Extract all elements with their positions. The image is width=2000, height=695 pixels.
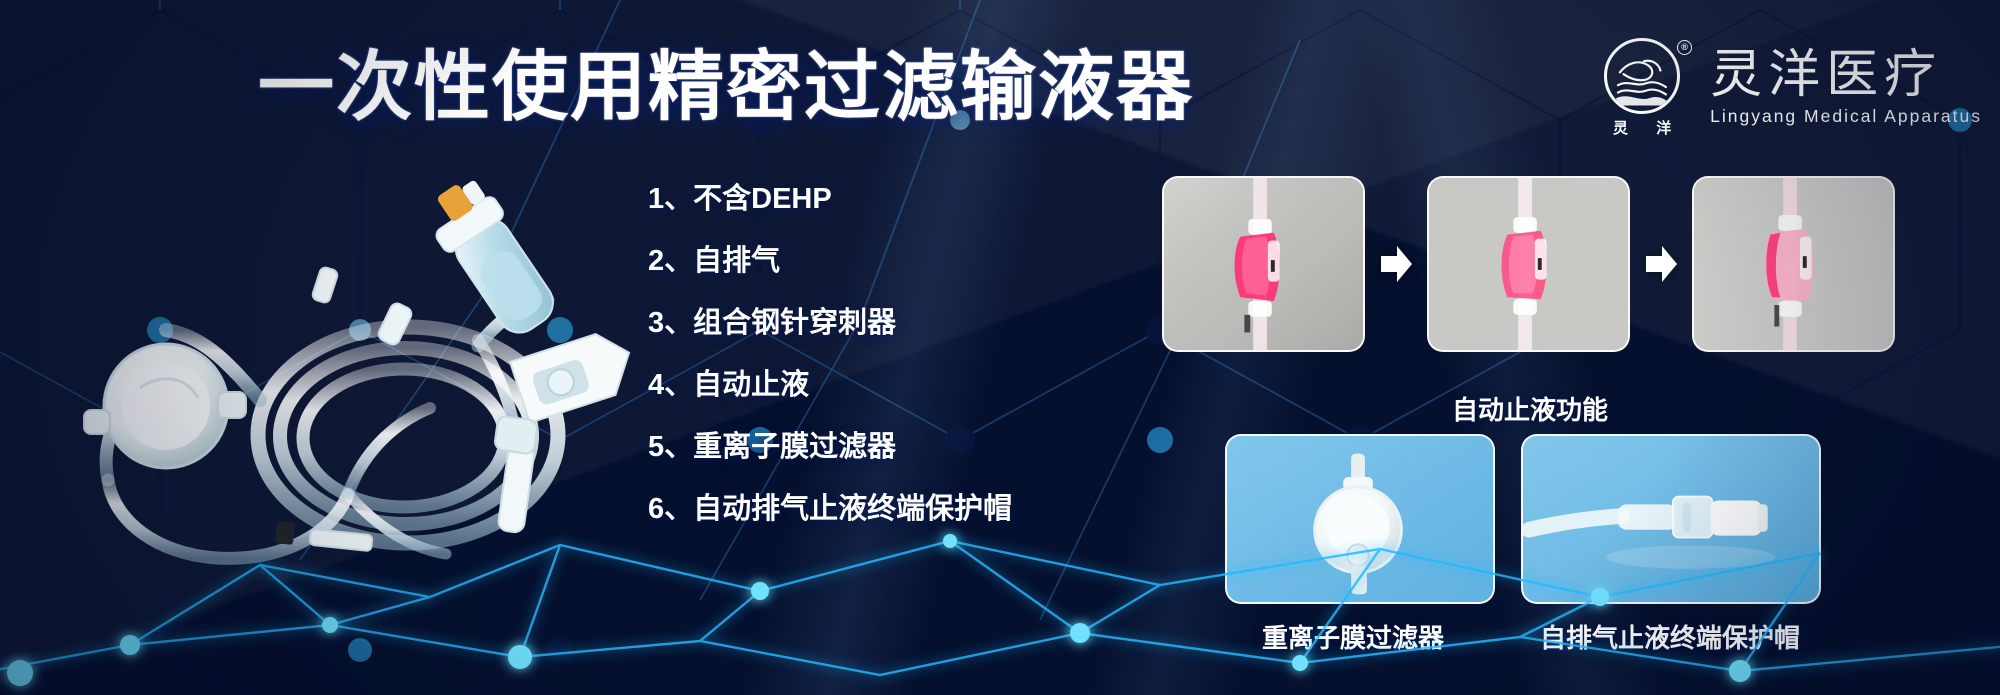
product-banner: 一次性使用精密过滤输液器 ® 灵 洋 灵洋医疗 Lingyang Medi [0,0,2000,695]
background-vignette [0,0,2000,695]
